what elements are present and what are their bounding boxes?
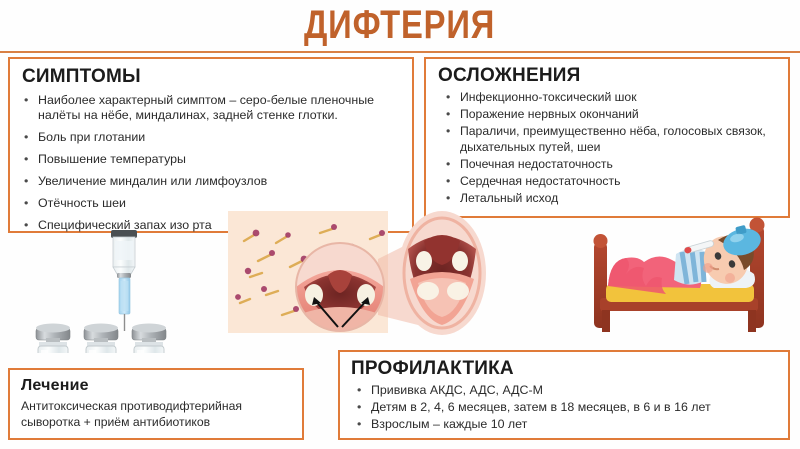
complications-panel: ОСЛОЖНЕНИЯ Инфекционно-токсический шок П…	[424, 57, 790, 218]
list-item: Повышение температуры	[22, 152, 402, 167]
list-item: Прививка АКДС, АДС, АДС-М	[351, 382, 780, 399]
list-item: Наиболее характерный симптом – серо-белы…	[22, 93, 402, 123]
inverted-vial	[111, 230, 137, 278]
title-divider	[0, 51, 800, 53]
prevention-heading: ПРОФИЛАКТИКА	[351, 356, 780, 381]
striped-scarf	[674, 248, 706, 284]
list-item: Инфекционно-токсический шок	[438, 89, 780, 105]
syringe	[119, 278, 130, 331]
diphtheria-infographic: ДИФТЕРИЯ СИМПТОМЫ Наиболее характерный с…	[0, 0, 800, 449]
sick-child-illustration	[572, 198, 788, 346]
prevention-panel: ПРОФИЛАКТИКА Прививка АКДС, АДС, АДС-М Д…	[338, 350, 790, 440]
treatment-heading: Лечение	[21, 375, 294, 396]
treatment-panel: Лечение Антитоксическая противодифтерийн…	[8, 368, 304, 440]
list-item: Параличи, преимущественно нёба, голосовы…	[438, 123, 780, 155]
list-item: Боль при глотании	[22, 130, 402, 145]
vial-right	[132, 324, 166, 354]
vial-middle	[84, 324, 118, 354]
open-mouth-view	[398, 211, 486, 335]
page-title-text: ДИФТЕРИЯ	[304, 1, 495, 49]
symptoms-heading: СИМПТОМЫ	[22, 65, 402, 89]
list-item: Детям в 2, 4, 6 месяцев, затем в 18 меся…	[351, 399, 780, 416]
treatment-body: Антитоксическая противодифтерийная сывор…	[21, 398, 294, 430]
prevention-list: Прививка АКДС, АДС, АДС-М Детям в 2, 4, …	[351, 382, 780, 433]
list-item: Взрослым – каждые 10 лет	[351, 416, 780, 433]
page-title: ДИФТЕРИЯ	[0, 0, 800, 52]
list-item: Увеличение миндалин или лимфоузлов	[22, 174, 402, 189]
list-item: Поражение нервных окончаний	[438, 106, 780, 122]
vaccine-vials-illustration	[14, 228, 234, 353]
throat-and-bacteria-illustration	[228, 203, 490, 345]
list-item: Сердечная недостаточность	[438, 173, 780, 189]
complications-heading: ОСЛОЖНЕНИЯ	[438, 64, 780, 88]
vial-left	[36, 324, 70, 354]
complications-list: Инфекционно-токсический шок Поражение не…	[438, 89, 780, 206]
list-item: Почечная недостаточность	[438, 156, 780, 172]
